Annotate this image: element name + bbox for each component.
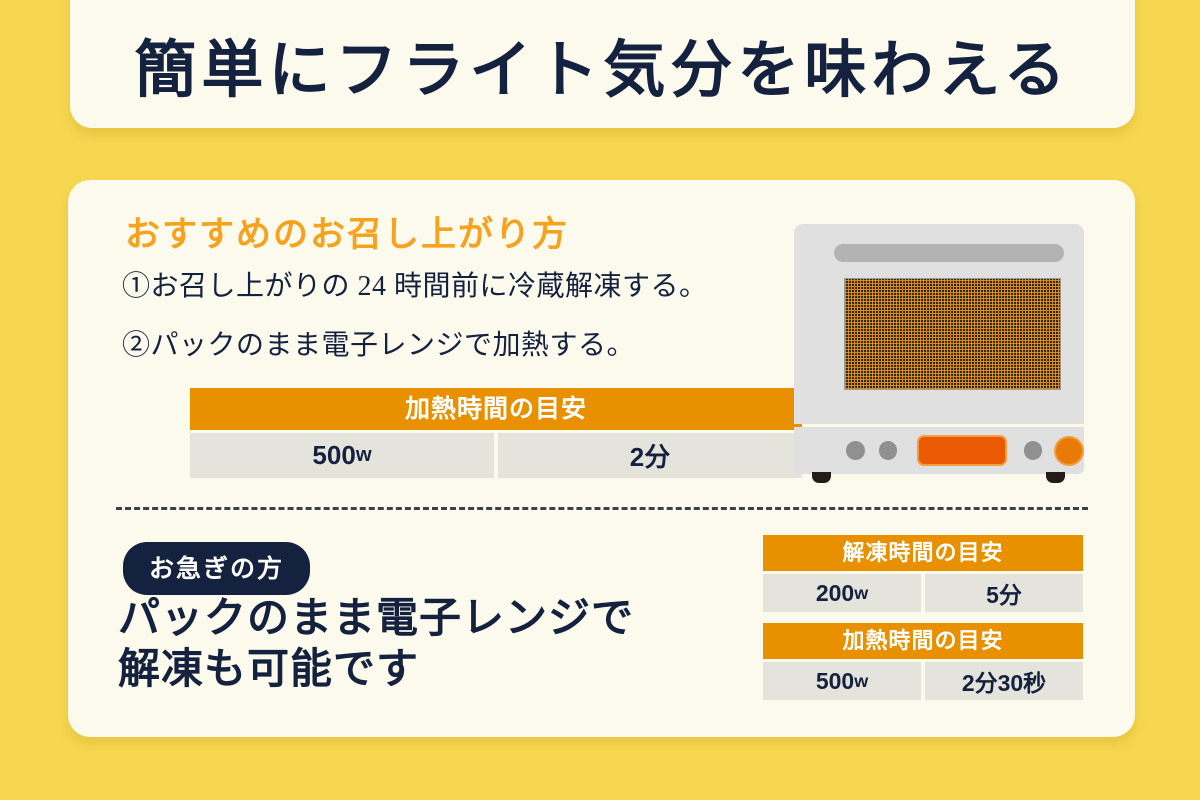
hurry-badge: お急ぎの方 — [123, 542, 310, 595]
hurry-heating-power-unit: w — [854, 671, 868, 692]
step-item-2: ②パックのまま電子レンジで加熱する。 — [122, 323, 635, 363]
section-divider — [116, 507, 1088, 510]
heating-time-cell: 2分 — [498, 433, 802, 478]
hurry-heating-time-table-header: 加熱時間の目安 — [763, 623, 1083, 659]
defrost-power-unit: w — [854, 583, 868, 604]
hurry-heating-power-value: 500 — [816, 668, 854, 695]
title-card: 簡単にフライト気分を味わえる — [70, 0, 1135, 128]
heating-time-table: 加熱時間の目安 500w 2分 — [190, 388, 802, 478]
hurry-heating-time-cell: 2分30秒 — [925, 662, 1083, 700]
recommended-heading: おすすめのお召し上がり方 — [125, 206, 569, 257]
microwave-body — [794, 224, 1084, 424]
microwave-knob-3 — [1024, 441, 1043, 460]
main-content-card: おすすめのお召し上がり方 ①お召し上がりの 24 時間前に冷蔵解凍する。 ②パッ… — [68, 180, 1135, 737]
microwave-window — [844, 278, 1061, 390]
defrost-power-value: 200 — [816, 580, 854, 607]
microwave-power-button — [1054, 436, 1084, 466]
heating-time-table-row: 500w 2分 — [190, 433, 802, 478]
heating-power-cell: 500w — [190, 433, 494, 478]
defrost-time-table-header: 解凍時間の目安 — [763, 535, 1083, 571]
heating-time-table-header: 加熱時間の目安 — [190, 388, 802, 430]
microwave-start-button — [917, 435, 1006, 466]
hurry-heating-time-table: 加熱時間の目安 500w 2分30秒 — [763, 623, 1083, 700]
microwave-knob-1 — [846, 441, 865, 460]
heating-power-value: 500 — [312, 440, 355, 471]
step-item-1: ①お召し上がりの 24 時間前に冷蔵解凍する。 — [122, 264, 708, 304]
microwave-knob-2 — [879, 441, 898, 460]
defrost-time-cell: 5分 — [925, 574, 1083, 612]
defrost-time-table-row: 200w 5分 — [763, 574, 1083, 612]
defrost-time-table: 解凍時間の目安 200w 5分 — [763, 535, 1083, 612]
page-title: 簡単にフライト気分を味わえる — [134, 40, 1070, 128]
hurry-heating-power-cell: 500w — [763, 662, 921, 700]
defrost-power-cell: 200w — [763, 574, 921, 612]
microwave-handle — [834, 244, 1064, 262]
microwave-foot-left — [812, 472, 831, 483]
microwave-foot-right — [1046, 472, 1065, 483]
microwave-oven-icon — [784, 224, 1094, 479]
hurry-heating-time-table-row: 500w 2分30秒 — [763, 662, 1083, 700]
hurry-description: パックのまま電子レンジで 解凍も可能です — [118, 594, 634, 696]
microwave-control-panel — [794, 427, 1084, 474]
heating-power-unit: w — [356, 444, 372, 467]
